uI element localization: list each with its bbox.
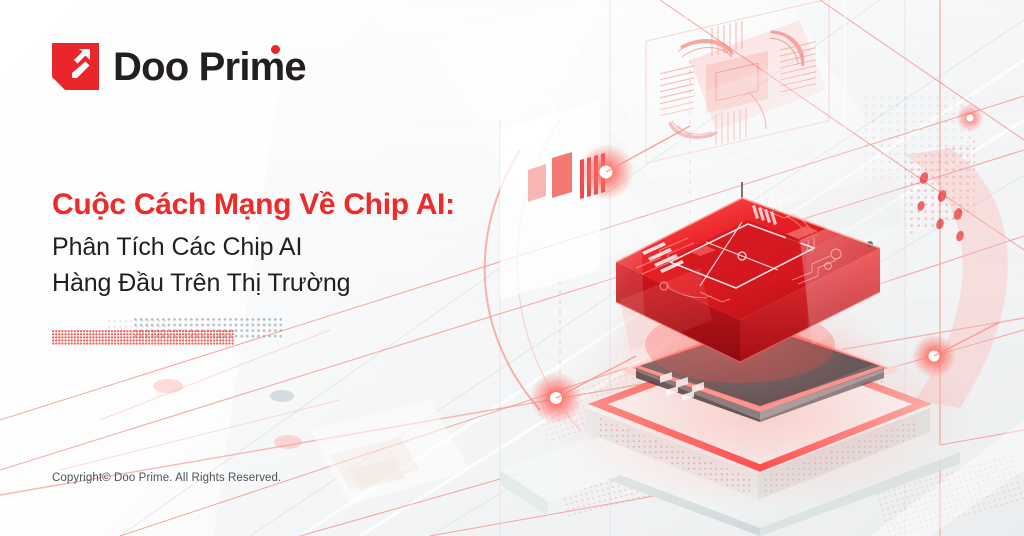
doo-prime-logo-mark — [52, 43, 99, 90]
brand-name: Doo Prime — [113, 47, 306, 87]
decorative-halftone — [52, 318, 282, 352]
copyright-text: Copyright© Doo Prime. All Rights Reserve… — [52, 472, 281, 484]
logo-i-dot — [271, 45, 280, 54]
subtitle-line-2: Hàng Đầu Trên Thị Trường — [52, 266, 350, 302]
page-title: Cuộc Cách Mạng Về Chip AI: — [52, 187, 455, 222]
subtitle-line-1: Phân Tích Các Chip AI — [52, 230, 350, 266]
brand-logo[interactable]: Doo Prime — [52, 43, 306, 90]
page-subtitle: Phân Tích Các Chip AI Hàng Đầu Trên Thị … — [52, 230, 350, 301]
promo-banner: Doo Prime Cuộc Cách Mạng Về Chip AI: Phâ… — [0, 0, 1024, 536]
banner-content: Doo Prime Cuộc Cách Mạng Về Chip AI: Phâ… — [48, 0, 568, 536]
red-halftone-bar — [52, 330, 234, 345]
